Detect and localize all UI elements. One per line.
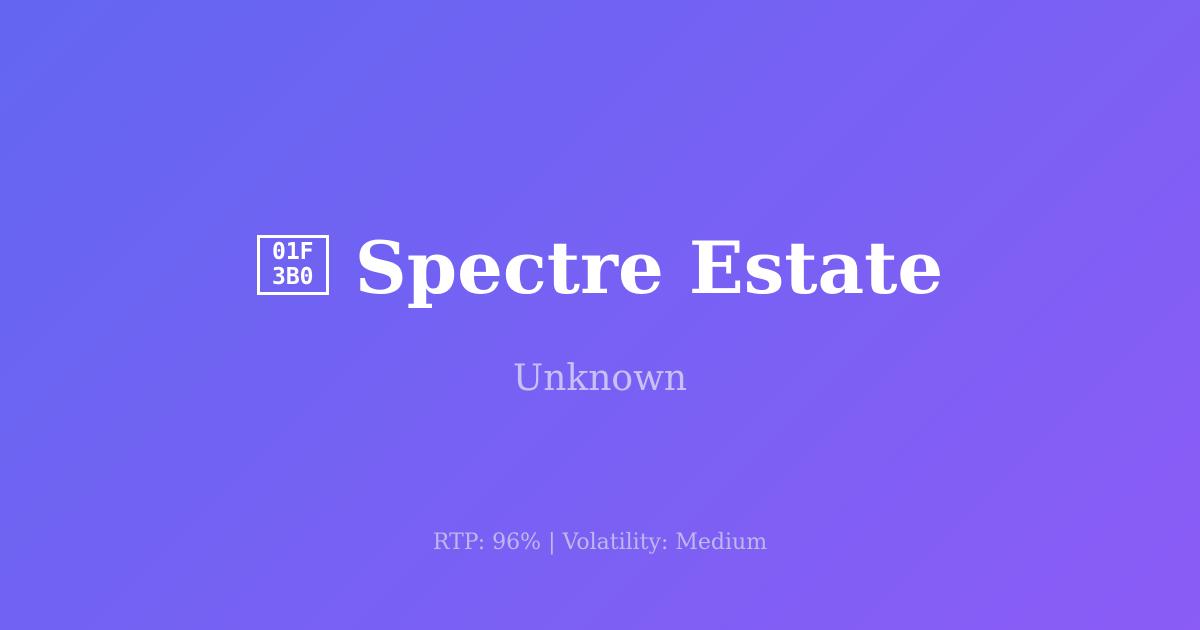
- page-title: Spectre Estate: [355, 230, 943, 306]
- slot-machine-icon: 01F 3B0: [257, 235, 329, 295]
- tofu-hex-top: 01F: [272, 240, 314, 265]
- game-stats-line: RTP: 96% | Volatility: Medium: [0, 530, 1200, 556]
- title-row: 01F 3B0 Spectre Estate: [257, 230, 943, 306]
- page-subtitle: Unknown: [513, 357, 687, 400]
- tofu-hex-bottom: 3B0: [272, 265, 314, 290]
- og-card: 01F 3B0 Spectre Estate Unknown RTP: 96% …: [0, 0, 1200, 630]
